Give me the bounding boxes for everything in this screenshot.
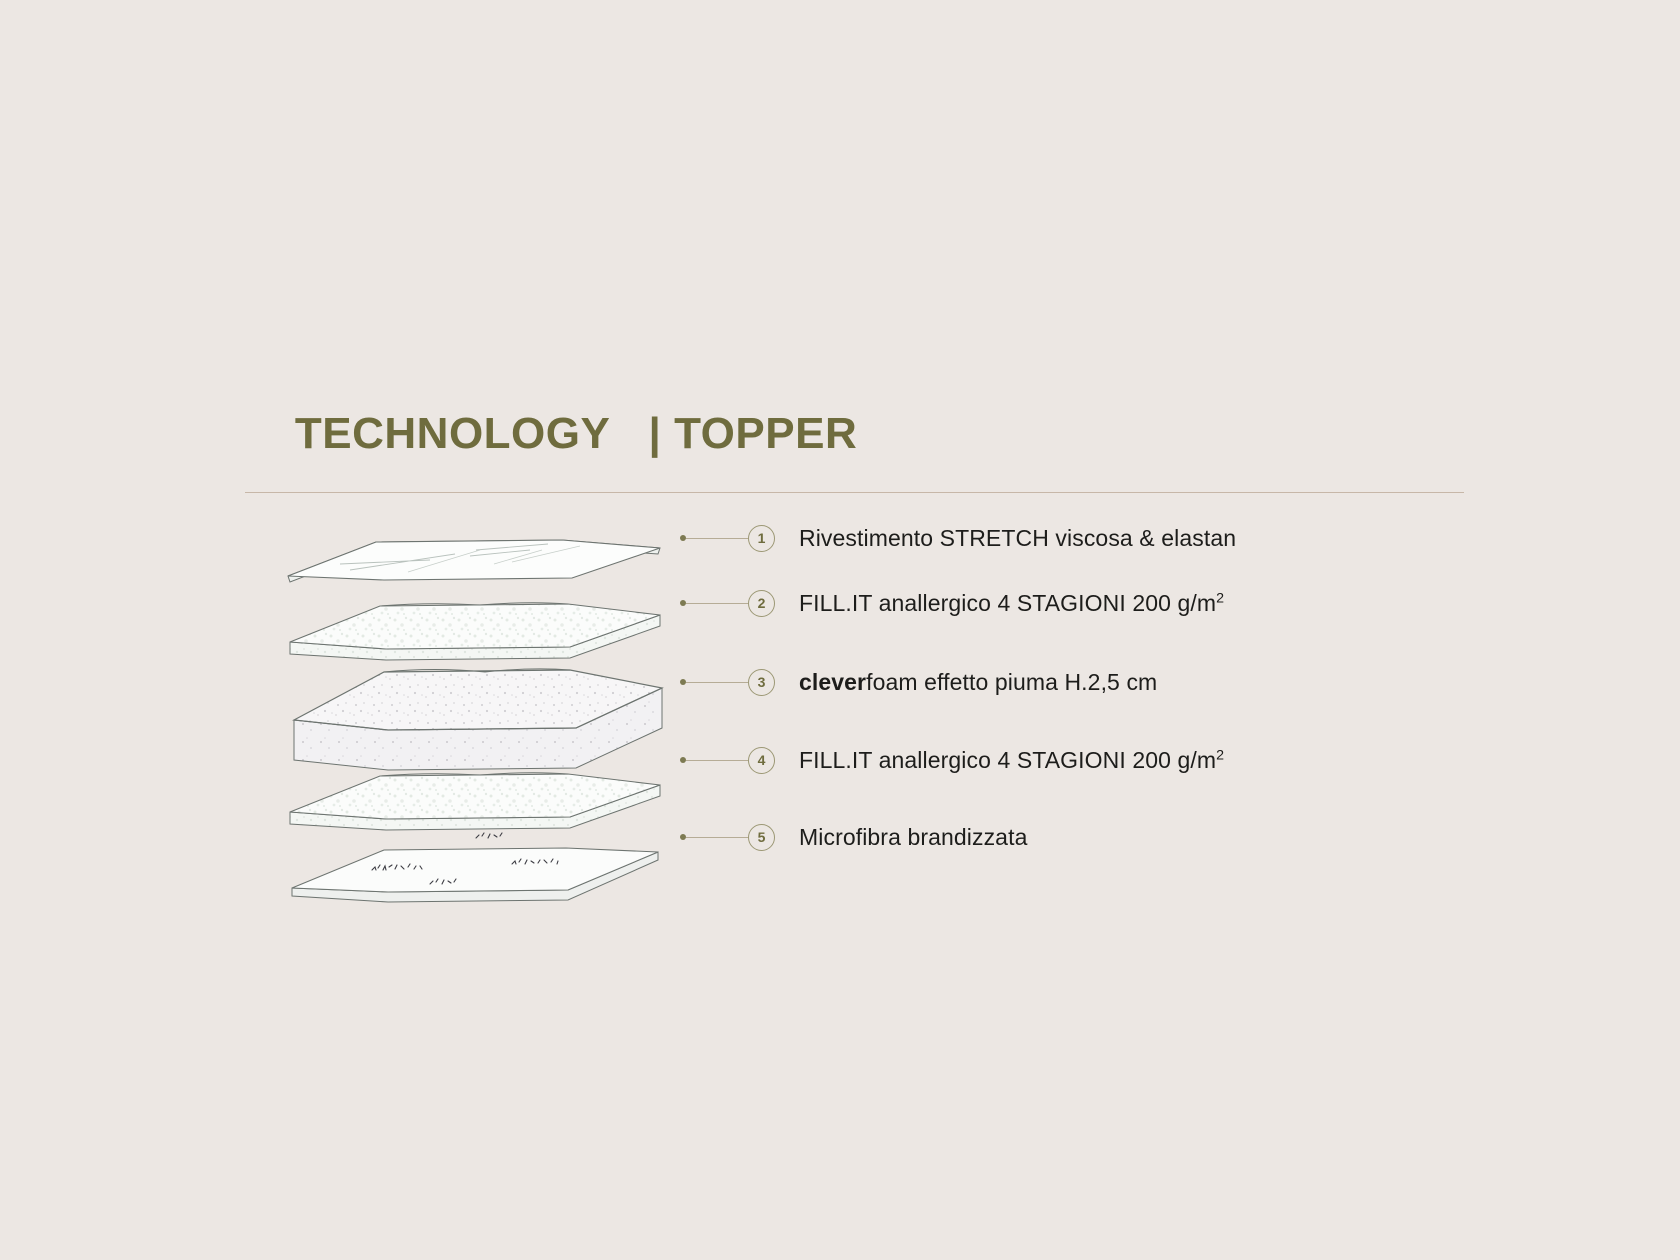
- exploded-topper-layers-diagram: [280, 520, 670, 930]
- legend-label-3: cleverfoam effetto piuma H.2,5 cm: [799, 669, 1157, 696]
- legend-number-badge-4: 4: [748, 747, 775, 774]
- legend-label-2-superscript: 2: [1216, 590, 1224, 606]
- page-title-separator: |: [649, 409, 662, 458]
- leader-line: [686, 837, 748, 838]
- legend-label-3-text: foam effetto piuma H.2,5 cm: [866, 669, 1157, 695]
- legend-label-2-text: FILL.IT anallergico 4 STAGIONI 200 g/m: [799, 590, 1216, 616]
- header-divider: [245, 492, 1464, 493]
- legend-item-4[interactable]: 4 FILL.IT anallergico 4 STAGIONI 200 g/m…: [680, 742, 1224, 778]
- legend-item-5[interactable]: 5 Microfibra brandizzata: [680, 819, 1027, 855]
- leader-line: [686, 603, 748, 604]
- page-title-main: TECHNOLOGY: [295, 409, 610, 458]
- leader-line: [686, 760, 748, 761]
- slide-canvas: TECHNOLOGY | TOPPER: [0, 0, 1680, 1260]
- layer-4-shape: [290, 773, 660, 830]
- legend-label-4-text: FILL.IT anallergico 4 STAGIONI 200 g/m: [799, 747, 1216, 773]
- legend-item-2[interactable]: 2 FILL.IT anallergico 4 STAGIONI 200 g/m…: [680, 585, 1224, 621]
- legend-number-badge-1: 1: [748, 525, 775, 552]
- legend-label-4: FILL.IT anallergico 4 STAGIONI 200 g/m2: [799, 747, 1224, 774]
- layer-5-shape: [292, 833, 658, 902]
- legend-number-badge-5: 5: [748, 824, 775, 851]
- legend-item-1[interactable]: 1 Rivestimento STRETCH viscosa & elastan: [680, 520, 1236, 556]
- legend-item-3[interactable]: 3 cleverfoam effetto piuma H.2,5 cm: [680, 664, 1157, 700]
- legend-label-5: Microfibra brandizzata: [799, 824, 1027, 851]
- legend-number-badge-2: 2: [748, 590, 775, 617]
- legend-label-1: Rivestimento STRETCH viscosa & elastan: [799, 525, 1236, 552]
- layer-1-shape: [288, 540, 660, 582]
- legend-label-4-superscript: 2: [1216, 747, 1224, 763]
- legend-label-2: FILL.IT anallergico 4 STAGIONI 200 g/m2: [799, 590, 1224, 617]
- leader-line: [686, 538, 748, 539]
- legend-number-badge-3: 3: [748, 669, 775, 696]
- legend-label-3-brand: clever: [799, 669, 866, 695]
- page-title: TECHNOLOGY | TOPPER: [244, 368, 857, 500]
- layer-3-shape: [294, 669, 662, 770]
- layers-legend: 1 Rivestimento STRETCH viscosa & elastan…: [680, 520, 1420, 920]
- legend-label-5-text: Microfibra brandizzata: [799, 824, 1027, 850]
- layer-2-shape: [290, 603, 660, 660]
- page-title-section: TOPPER: [674, 409, 857, 458]
- leader-line: [686, 682, 748, 683]
- legend-label-1-text: Rivestimento STRETCH viscosa & elastan: [799, 525, 1236, 551]
